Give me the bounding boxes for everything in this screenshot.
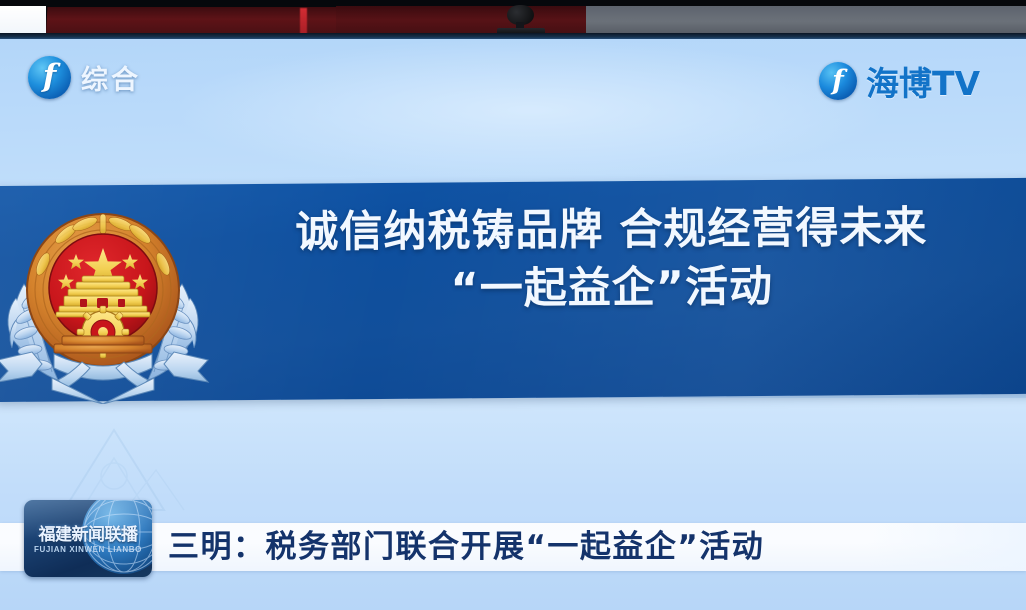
- banner-title-line1: 诚信纳税铸品牌 合规经营得未来: [295, 203, 927, 258]
- ceiling-strip: [0, 0, 1026, 34]
- gray-wall: [586, 6, 1026, 34]
- ticker-fade: [866, 523, 1026, 571]
- program-title-pinyin: FUJIAN XINWEN LIANBO: [32, 545, 144, 554]
- broadcast-screenshot: 诚信纳税铸品牌 合规经营得未来 “一起益企”活动: [0, 0, 1026, 610]
- program-title-cn: 福建新闻联播: [32, 526, 144, 544]
- program-badge: 福建新闻联播 FUJIAN XINWEN LIANBO: [24, 500, 152, 577]
- red-curtain-left: [46, 7, 361, 34]
- f-glyph: f: [819, 62, 857, 100]
- haibo-f-logo-icon: f: [819, 62, 857, 100]
- mountain-watermark: [52, 418, 202, 513]
- channel-name-label: 综合: [81, 58, 141, 97]
- stage-glow: [180, 40, 880, 180]
- banner-title: 诚信纳税铸品牌 合规经营得未来 “一起益企”活动: [216, 198, 1007, 321]
- network-bug: f 海博TV: [819, 57, 980, 105]
- ceiling-light-patch: [0, 6, 46, 34]
- red-curtain-right: [336, 6, 612, 34]
- news-headline: 三明：税务部门联合开展“一起益企”活动: [168, 527, 764, 568]
- curtain-highlight: [300, 8, 307, 34]
- china-tax-bureau-emblem: [0, 192, 210, 404]
- banner-title-line2: “一起益企”活动: [217, 257, 1007, 322]
- channel-bug: f 综合: [28, 56, 141, 99]
- network-name-label: 海博TV: [866, 57, 980, 105]
- f-glyph: f: [28, 56, 71, 99]
- fujian-f-logo-icon: f: [28, 56, 71, 99]
